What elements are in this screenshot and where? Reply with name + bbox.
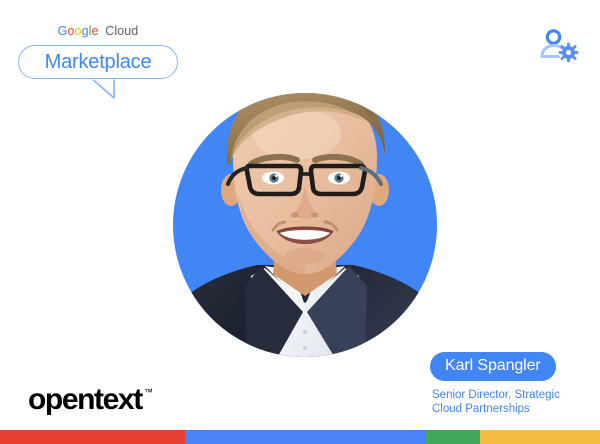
opentext-wordmark: opentext bbox=[28, 385, 142, 415]
color-bar-segment-blue bbox=[185, 430, 425, 444]
color-bar-segment-red bbox=[0, 430, 185, 444]
color-bar-segment-green bbox=[425, 430, 480, 444]
trademark-symbol: ™ bbox=[144, 388, 153, 397]
google-brand-word: Google bbox=[58, 24, 103, 38]
speaker-title-line-2: Cloud Partnerships bbox=[432, 402, 584, 416]
speaker-title-line-1: Senior Director, Strategic bbox=[432, 388, 584, 402]
google-letter-g-2: g bbox=[82, 24, 89, 38]
color-bar-segment-yellow bbox=[480, 430, 600, 444]
speech-bubble-tail-icon bbox=[90, 77, 116, 99]
speaker-title: Senior Director, Strategic Cloud Partner… bbox=[432, 388, 584, 416]
google-cloud-wordmark: Google Cloud bbox=[18, 24, 178, 38]
google-letter-o-1: o bbox=[67, 24, 74, 38]
person-gear-icon[interactable] bbox=[538, 26, 580, 66]
brand-color-bar bbox=[0, 430, 600, 444]
opentext-logo: opentext ™ bbox=[28, 385, 153, 415]
speaker-name-badge: Karl Spangler Senior Director, Strategic… bbox=[430, 352, 588, 416]
speaker-headshot-photo bbox=[173, 60, 437, 358]
speaker-portrait bbox=[173, 60, 437, 358]
google-letter-e: e bbox=[92, 24, 99, 38]
marketplace-bubble: Marketplace bbox=[18, 45, 178, 79]
presentation-slide: Google Cloud Marketplace bbox=[0, 0, 600, 444]
marketplace-pill: Marketplace bbox=[18, 45, 178, 79]
google-letter-o-2: o bbox=[75, 24, 82, 38]
google-letter-g-1: G bbox=[58, 24, 68, 38]
cloud-word: Cloud bbox=[105, 24, 138, 38]
speaker-name-pill: Karl Spangler bbox=[430, 352, 556, 381]
google-cloud-marketplace-lockup: Google Cloud Marketplace bbox=[18, 24, 178, 79]
marketplace-label: Marketplace bbox=[45, 52, 152, 72]
speaker-name: Karl Spangler bbox=[445, 357, 541, 374]
